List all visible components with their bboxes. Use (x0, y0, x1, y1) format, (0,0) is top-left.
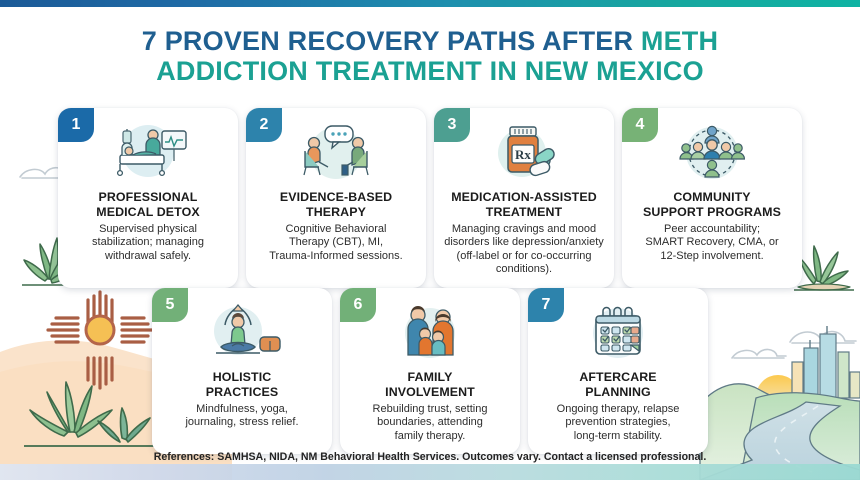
card-desc-5: Mindfulness, yoga, journaling, stress re… (160, 403, 324, 430)
title-line1-part2: METH (641, 26, 718, 56)
card-title-line: MEDICATION-ASSISTED (442, 190, 606, 205)
card-badge-5: 5 (152, 288, 188, 322)
card-desc-4: Peer accountability; SMART Recovery, CMA… (630, 223, 794, 263)
card-desc-2: Cognitive Behavioral Therapy (CBT), MI, … (254, 223, 418, 263)
card-title-line: PRACTICES (160, 385, 324, 400)
card-row-bottom: 5 (0, 288, 860, 454)
card-community-support-programs[interactable]: 4 (622, 108, 802, 288)
card-desc-line: Peer accountability; (630, 223, 794, 236)
card-desc-line: Ongoing therapy, relapse (536, 403, 700, 416)
card-title-line: INVOLVEMENT (348, 385, 512, 400)
card-title-line: SUPPORT PROGRAMS (630, 205, 794, 220)
card-aftercare-planning[interactable]: 7 (528, 288, 708, 454)
card-desc-line: boundaries, attending (348, 416, 512, 429)
card-title-line: PROFESSIONAL (66, 190, 230, 205)
card-title-7: AFTERCARE PLANNING (536, 370, 700, 399)
card-title-line: HOLISTIC (160, 370, 324, 385)
card-title-2: EVIDENCE-BASED THERAPY (254, 190, 418, 219)
card-desc-line: 12-Step involvement. (630, 250, 794, 263)
card-desc-1: Supervised physical stabilization; manag… (66, 223, 230, 263)
card-desc-line: long-term stability. (536, 430, 700, 443)
bottom-gradient-bar (0, 464, 860, 480)
card-desc-6: Rebuilding trust, setting boundaries, at… (348, 403, 512, 443)
card-desc-line: stabilization; managing (66, 236, 230, 249)
infographic-content: 7 PROVEN RECOVERY PATHS AFTER METH ADDIC… (0, 0, 860, 480)
card-desc-line: prevention strategies, (536, 416, 700, 429)
card-desc-line: conditions). (442, 263, 606, 276)
svg-text:Rx: Rx (515, 147, 531, 162)
card-desc-line: withdrawal safely. (66, 250, 230, 263)
card-desc-line: Rebuilding trust, setting (348, 403, 512, 416)
card-title-line: AFTERCARE (536, 370, 700, 385)
card-holistic-practices[interactable]: 5 (152, 288, 332, 454)
card-desc-line: Supervised physical (66, 223, 230, 236)
card-title-line: TREATMENT (442, 205, 606, 220)
card-title-line: FAMILY (348, 370, 512, 385)
title-line2: ADDICTION TREATMENT IN NEW MEXICO (0, 56, 860, 86)
card-title-4: COMMUNITY SUPPORT PROGRAMS (630, 190, 794, 219)
card-desc-3: Managing cravings and mood disorders lik… (442, 223, 606, 277)
card-desc-line: Managing cravings and mood (442, 223, 606, 236)
top-gradient-bar (0, 0, 860, 7)
card-title-line: MEDICAL DETOX (66, 205, 230, 220)
card-desc-line: Trauma-Informed sessions. (254, 250, 418, 263)
card-desc-line: (off-label or for co-occurring (442, 250, 606, 263)
references-footer: References: SAMHSA, NIDA, NM Behavioral … (0, 451, 860, 463)
card-title-3: MEDICATION-ASSISTED TREATMENT (442, 190, 606, 219)
card-badge-4: 4 (622, 108, 658, 142)
card-professional-medical-detox[interactable]: 1 (58, 108, 238, 288)
card-title-line: COMMUNITY (630, 190, 794, 205)
title-line1-part1: 7 PROVEN RECOVERY PATHS AFTER (142, 26, 641, 56)
card-desc-line: Cognitive Behavioral (254, 223, 418, 236)
card-row-top: 1 (0, 108, 860, 288)
card-evidence-based-therapy[interactable]: 2 (246, 108, 426, 288)
card-desc-line: Therapy (CBT), MI, (254, 236, 418, 249)
card-desc-line: journaling, stress relief. (160, 416, 324, 429)
card-medication-assisted-treatment[interactable]: 3 Rx (434, 108, 614, 288)
card-desc-line: disorders like depression/anxiety (442, 236, 606, 249)
card-desc-7: Ongoing therapy, relapse prevention stra… (536, 403, 700, 443)
card-family-involvement[interactable]: 6 (340, 288, 520, 454)
card-title-1: PROFESSIONAL MEDICAL DETOX (66, 190, 230, 219)
card-badge-3: 3 (434, 108, 470, 142)
card-desc-line: SMART Recovery, CMA, or (630, 236, 794, 249)
card-desc-line: family therapy. (348, 430, 512, 443)
card-title-5: HOLISTIC PRACTICES (160, 370, 324, 399)
card-title-line: PLANNING (536, 385, 700, 400)
card-title-line: EVIDENCE-BASED (254, 190, 418, 205)
card-badge-2: 2 (246, 108, 282, 142)
card-badge-7: 7 (528, 288, 564, 322)
card-title-6: FAMILY INVOLVEMENT (348, 370, 512, 399)
page-title: 7 PROVEN RECOVERY PATHS AFTER METH ADDIC… (0, 0, 860, 86)
card-badge-1: 1 (58, 108, 94, 142)
card-badge-6: 6 (340, 288, 376, 322)
card-title-line: THERAPY (254, 205, 418, 220)
card-desc-line: Mindfulness, yoga, (160, 403, 324, 416)
